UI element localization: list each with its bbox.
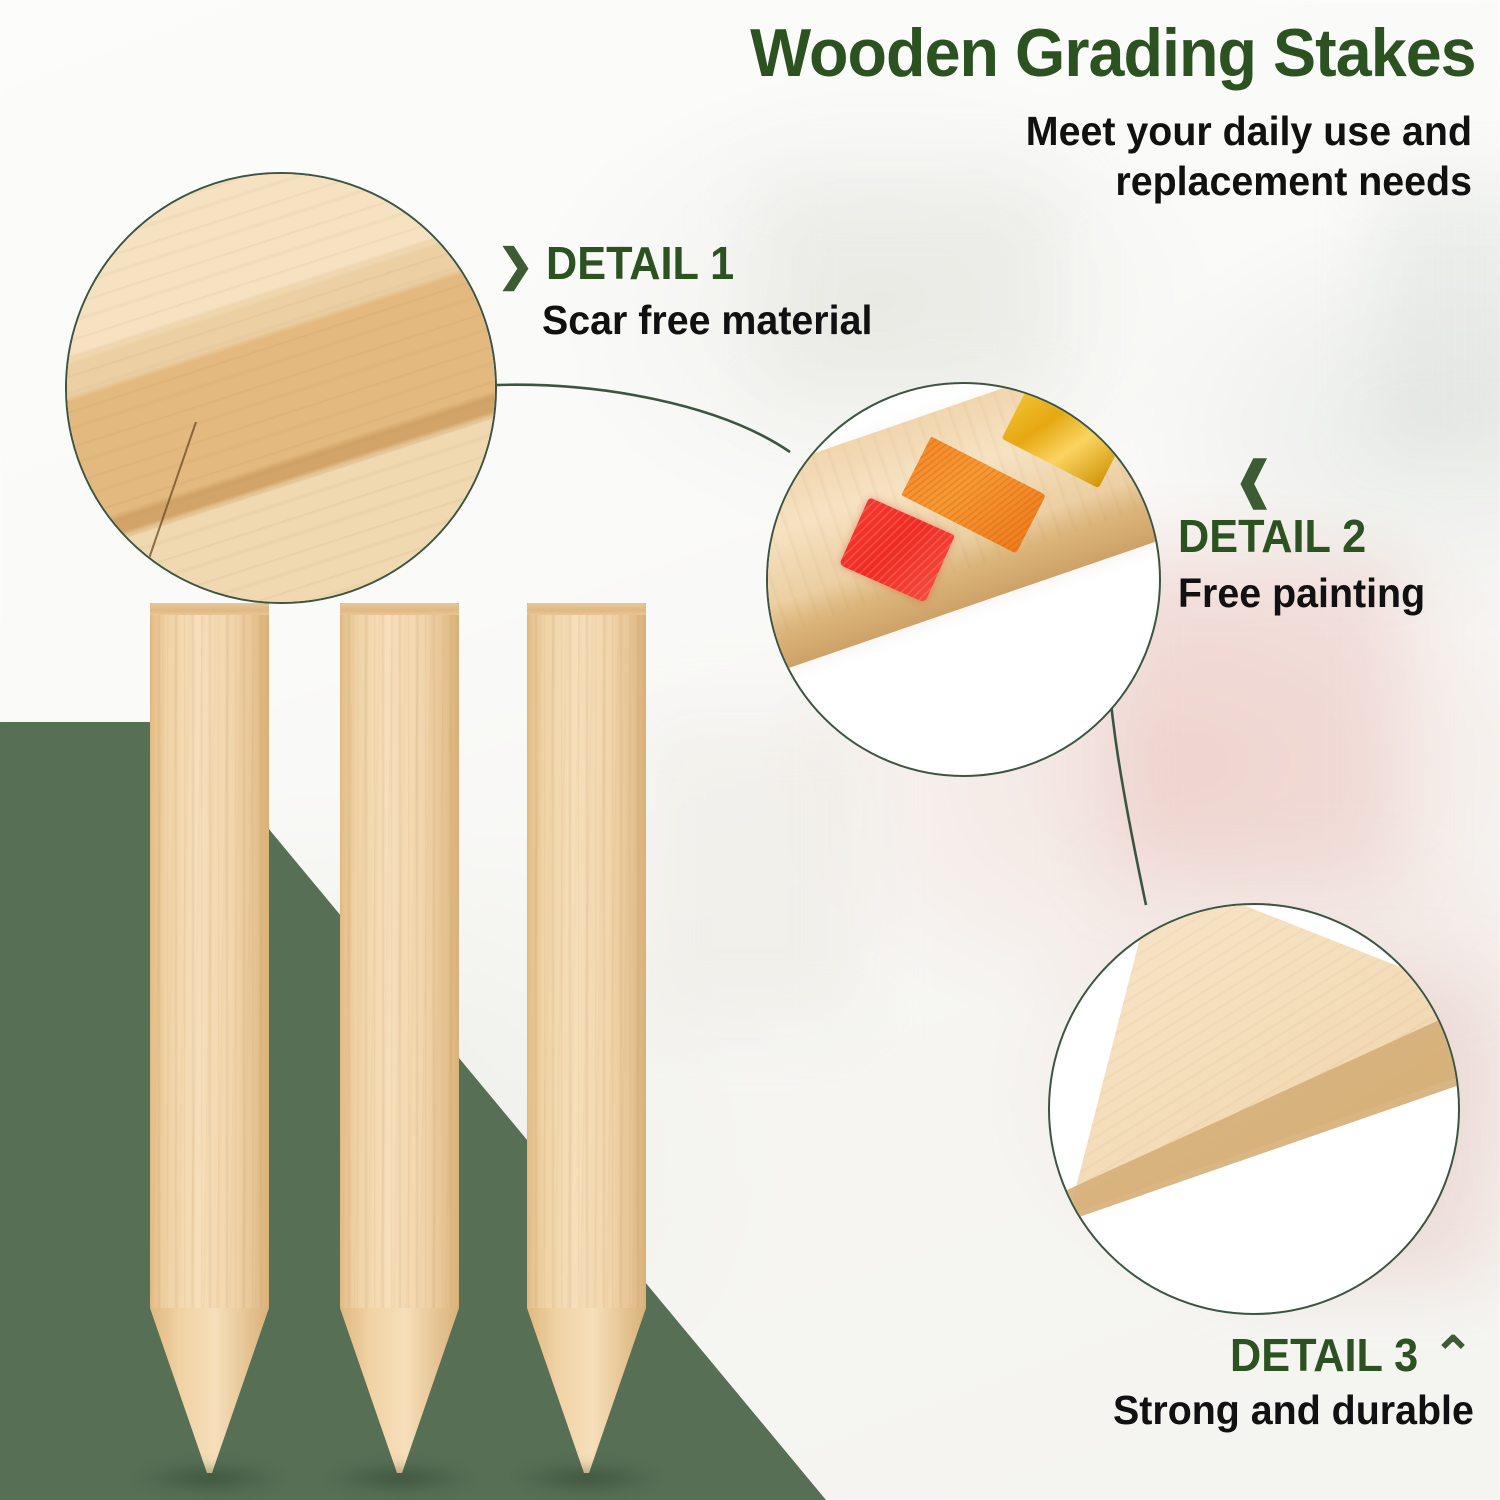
stake-body <box>340 603 459 1308</box>
wood-planks-closeup-icon <box>67 174 495 602</box>
detail-1-label: DETAIL 1 <box>546 240 866 287</box>
detail-3-label: DETAIL 3 <box>1230 1332 1418 1379</box>
stake-top-cap <box>527 603 646 615</box>
detail-2-callout: ❰ DETAIL 2 Free painting <box>1178 455 1435 616</box>
stake-tip <box>340 1308 459 1473</box>
chevron-up-icon: ⌃ <box>1432 1330 1474 1380</box>
stake-2 <box>340 603 459 1483</box>
detail-3-callout: DETAIL 3 ⌃ Strong and durable <box>1098 1332 1474 1433</box>
stake-tip <box>150 1308 269 1473</box>
stake-shadow <box>135 1461 285 1495</box>
stake-3 <box>527 603 646 1483</box>
detail-1-description: Scar free material <box>542 298 872 343</box>
detail-1-callout: ❯ DETAIL 1 Scar free material <box>497 240 886 343</box>
detail-3-description: Strong and durable <box>1113 1388 1474 1433</box>
stake-top-cap <box>150 603 269 615</box>
stake-top-cap <box>340 603 459 615</box>
detail-2-image <box>766 382 1161 777</box>
detail-1-image <box>65 172 497 604</box>
stake-shadow <box>512 1461 662 1495</box>
chevron-right-icon: ❯ <box>497 244 534 288</box>
stake-tip <box>527 1308 646 1473</box>
stake-body <box>150 603 269 1308</box>
detail-2-label: DETAIL 2 <box>1178 513 1420 560</box>
stake-1 <box>150 603 269 1483</box>
detail-3-image <box>1048 903 1460 1315</box>
beveled-stake-end-icon <box>1050 905 1458 1313</box>
page-title: Wooden Grading Stakes <box>751 14 1476 92</box>
stake-shadow <box>325 1461 475 1495</box>
stake-body <box>527 603 646 1308</box>
detail-2-description: Free painting <box>1178 571 1425 616</box>
paintbrush-red-paint-icon <box>768 384 1159 775</box>
chevron-left-icon: ❰ <box>1233 455 1275 505</box>
subtitle-line-1: Meet your daily use and <box>858 106 1472 156</box>
page-subtitle: Meet your daily use and replacement need… <box>858 106 1472 206</box>
infographic-canvas: Wooden Grading Stakes Meet your daily us… <box>0 0 1500 1500</box>
subtitle-line-2: replacement needs <box>858 156 1472 206</box>
